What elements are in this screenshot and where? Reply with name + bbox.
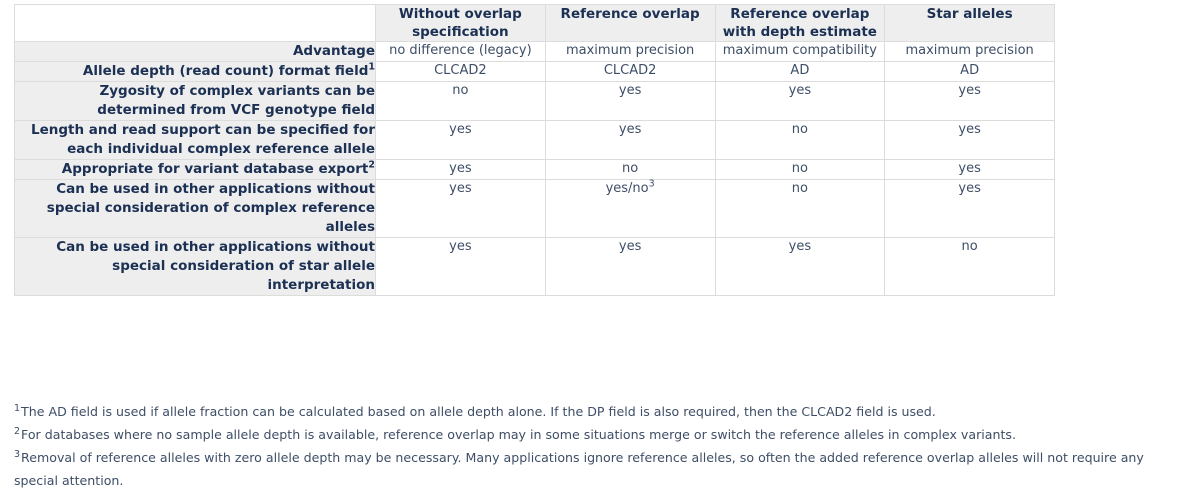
header-row: Without overlap specification Reference … (15, 5, 1055, 42)
footnote-text: Removal of reference alleles with zero a… (14, 450, 1144, 488)
cell-length-reference-overlap: yes (545, 121, 715, 160)
cell-value: yes (789, 83, 811, 98)
cell-zygosity-reference-overlap-depth: yes (715, 82, 885, 121)
column-header-without-overlap-specification: Without overlap specification (376, 5, 546, 42)
row-header-label: Length and read support can be specified… (31, 122, 375, 157)
footnote-marker: 3 (14, 449, 20, 460)
cell-footnote-marker: 3 (649, 179, 655, 190)
footnote-text: For databases where no sample allele dep… (21, 427, 1016, 442)
row-header-length-read-support: Length and read support can be specified… (15, 121, 376, 160)
cell-length-star-alleles: yes (885, 121, 1055, 160)
cell-advantage-reference-overlap-depth: maximum compatibility (715, 42, 885, 62)
cell-value: yes/no (606, 181, 649, 196)
cell-value: maximum compatibility (723, 43, 877, 58)
cell-value: yes (449, 181, 471, 196)
cell-value: CLCAD2 (604, 63, 657, 78)
cell-format-without-overlap: CLCAD2 (376, 62, 546, 82)
row-header-label: Zygosity of complex variants can be dete… (97, 83, 375, 118)
table-row: Advantage no difference (legacy) maximum… (15, 42, 1055, 62)
cell-value: no difference (legacy) (389, 43, 532, 58)
cell-database-reference-overlap: no (545, 160, 715, 180)
cell-length-without-overlap: yes (376, 121, 546, 160)
row-header-variant-database-export: Appropriate for variant database export2 (15, 160, 376, 180)
cell-format-star-alleles: AD (885, 62, 1055, 82)
cell-value: yes (449, 161, 471, 176)
row-header-other-applications-complex-reference-alleles: Can be used in other applications withou… (15, 180, 376, 238)
cell-apps-star-without-overlap: yes (376, 238, 546, 296)
comparison-table-container: Without overlap specification Reference … (14, 4, 1054, 296)
comparison-table: Without overlap specification Reference … (14, 4, 1055, 296)
footnote-1: 1The AD field is used if allele fraction… (14, 400, 1172, 423)
cell-value: AD (790, 63, 809, 78)
cell-database-reference-overlap-depth: no (715, 160, 885, 180)
cell-apps-star-star-alleles: no (885, 238, 1055, 296)
cell-value: no (962, 239, 978, 254)
footnote-2: 2For databases where no sample allele de… (14, 423, 1172, 446)
cell-apps-complex-without-overlap: yes (376, 180, 546, 238)
row-header-advantage: Advantage (15, 42, 376, 62)
cell-value: yes (449, 122, 471, 137)
cell-zygosity-reference-overlap: yes (545, 82, 715, 121)
cell-apps-star-reference-overlap: yes (545, 238, 715, 296)
cell-value: yes (958, 161, 980, 176)
cell-format-reference-overlap: CLCAD2 (545, 62, 715, 82)
cell-value: yes (619, 83, 641, 98)
cell-format-reference-overlap-depth: AD (715, 62, 885, 82)
cell-advantage-star-alleles: maximum precision (885, 42, 1055, 62)
footnote-3: 3Removal of reference alleles with zero … (14, 446, 1172, 492)
cell-zygosity-without-overlap: no (376, 82, 546, 121)
cell-value: maximum precision (566, 43, 694, 58)
row-header-zygosity-complex-variants: Zygosity of complex variants can be dete… (15, 82, 376, 121)
cell-value: CLCAD2 (434, 63, 487, 78)
cell-value: no (452, 83, 468, 98)
column-header-reference-overlap-with-depth-estimate: Reference overlap with depth estimate (715, 5, 885, 42)
cell-apps-complex-star-alleles: yes (885, 180, 1055, 238)
cell-value: yes (619, 239, 641, 254)
cell-database-without-overlap: yes (376, 160, 546, 180)
cell-advantage-reference-overlap: maximum precision (545, 42, 715, 62)
table-body: Advantage no difference (legacy) maximum… (15, 42, 1055, 296)
cell-value: yes (449, 239, 471, 254)
cell-value: yes (958, 122, 980, 137)
cell-value: maximum precision (905, 43, 1033, 58)
cell-value: no (792, 122, 808, 137)
cell-value: AD (960, 63, 979, 78)
cell-advantage-without-overlap: no difference (legacy) (376, 42, 546, 62)
footnote-text: The AD field is used if allele fraction … (21, 404, 936, 419)
cell-value: no (792, 181, 808, 196)
row-header-label: Can be used in other applications withou… (56, 239, 375, 293)
cell-apps-complex-reference-overlap-depth: no (715, 180, 885, 238)
row-header-label: Appropriate for variant database export (62, 161, 369, 177)
table-row: Can be used in other applications withou… (15, 238, 1055, 296)
cell-zygosity-star-alleles: yes (885, 82, 1055, 121)
footnotes-section: 1The AD field is used if allele fraction… (14, 400, 1172, 492)
table-row: Allele depth (read count) format field1 … (15, 62, 1055, 82)
cell-value: no (792, 161, 808, 176)
row-header-label: Can be used in other applications withou… (47, 181, 375, 235)
footnote-marker: 2 (14, 426, 20, 437)
table-row: Zygosity of complex variants can be dete… (15, 82, 1055, 121)
table-row: Can be used in other applications withou… (15, 180, 1055, 238)
column-header-reference-overlap: Reference overlap (545, 5, 715, 42)
row-header-other-applications-star-allele-interpretation: Can be used in other applications withou… (15, 238, 376, 296)
cell-value: yes (958, 83, 980, 98)
cell-value: yes (619, 122, 641, 137)
cell-apps-star-reference-overlap-depth: yes (715, 238, 885, 296)
cell-length-reference-overlap-depth: no (715, 121, 885, 160)
table-row: Appropriate for variant database export2… (15, 160, 1055, 180)
row-header-label: Advantage (293, 43, 375, 59)
comparison-page: Without overlap specification Reference … (0, 0, 1181, 492)
cell-value: yes (958, 181, 980, 196)
row-header-label: Allele depth (read count) format field (83, 63, 368, 79)
cell-value: yes (789, 239, 811, 254)
table-header: Without overlap specification Reference … (15, 5, 1055, 42)
header-corner-cell (15, 5, 376, 42)
footnote-marker: 1 (14, 403, 20, 414)
column-header-star-alleles: Star alleles (885, 5, 1055, 42)
table-row: Length and read support can be specified… (15, 121, 1055, 160)
row-header-footnote-marker: 2 (368, 160, 375, 171)
cell-database-star-alleles: yes (885, 160, 1055, 180)
row-header-footnote-marker: 1 (368, 62, 375, 73)
row-header-allele-depth-format-field: Allele depth (read count) format field1 (15, 62, 376, 82)
cell-value: no (622, 161, 638, 176)
cell-apps-complex-reference-overlap: yes/no3 (545, 180, 715, 238)
